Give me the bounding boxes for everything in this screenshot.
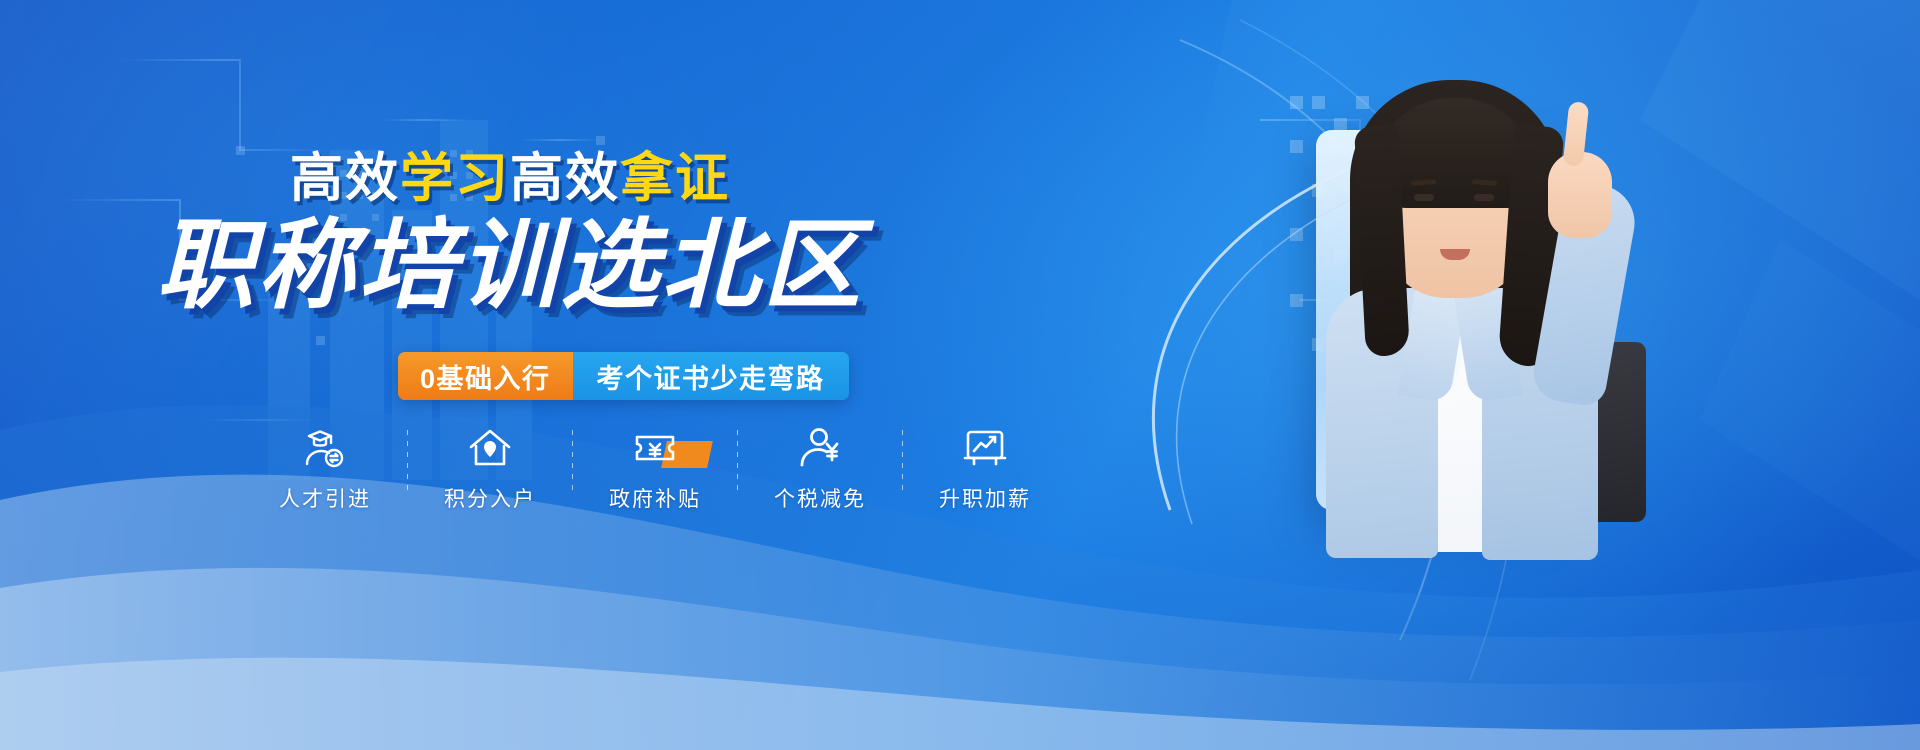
feature-item-talent[interactable]: 人才引进 [258,424,392,513]
graduate-exchange-icon [301,424,349,472]
pill-left-label: 0基础入行 [398,352,573,400]
kicker-line: 高效学习高效拿证 [0,152,1020,205]
feature-label: 升职加薪 [939,483,1031,513]
kicker-segment-4: 拿证 [620,149,730,208]
headline: 职称培训选北区 [0,215,1020,317]
kicker-segment-2: 学习 [400,149,510,208]
headline-text: 职称培训选北区 [156,215,863,317]
feature-divider [572,430,573,492]
home-pin-icon [466,424,514,472]
promo-banner: 高效学习高效拿证 职称培训选北区 0基础入行 考个证书少走弯路 [0,0,1920,750]
feature-label: 人才引进 [279,483,371,513]
feature-divider [407,430,408,492]
pill-right-label: 考个证书少走弯路 [573,352,849,400]
growth-chart-icon [961,424,1009,472]
feature-item-tax[interactable]: 个税减免 [753,424,887,513]
model-stage [1020,0,1920,750]
feature-label: 积分入户 [444,483,536,513]
feature-label: 政府补贴 [609,483,701,513]
kicker-segment-1: 高效 [290,149,400,208]
feature-item-subsidy[interactable]: 政府补贴 [588,424,722,513]
copy-block: 高效学习高效拿证 职称培训选北区 0基础入行 考个证书少走弯路 [0,0,1080,750]
feature-divider [902,430,903,492]
feature-item-promotion[interactable]: 升职加薪 [918,424,1052,513]
feature-label: 个税减免 [774,483,866,513]
feature-divider [737,430,738,492]
ticket-yen-icon [631,424,679,472]
feature-list: 人才引进 积分入户 [258,424,1052,513]
presenter-photo [1230,74,1700,544]
person-yen-icon [796,424,844,472]
feature-item-residency[interactable]: 积分入户 [423,424,557,513]
tagline-pill[interactable]: 0基础入行 考个证书少走弯路 [398,352,849,400]
kicker-segment-3: 高效 [510,149,620,208]
